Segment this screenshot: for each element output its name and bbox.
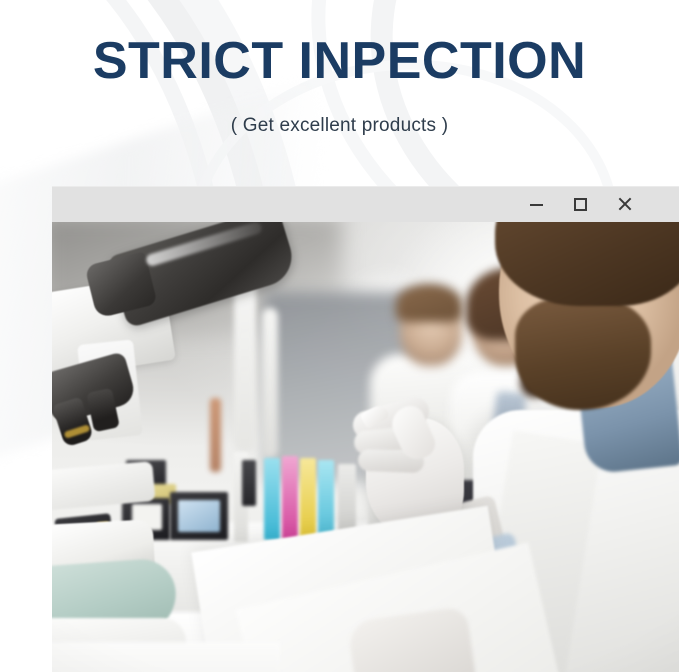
header: STRICT INPECTION ( Get excellent product…	[0, 0, 679, 137]
close-button[interactable]	[607, 192, 641, 218]
minimize-icon	[530, 204, 543, 206]
window-titlebar[interactable]	[52, 186, 679, 222]
minimize-button[interactable]	[519, 192, 553, 218]
app-window	[52, 186, 679, 672]
close-icon	[617, 197, 632, 212]
maximize-button[interactable]	[563, 192, 597, 218]
maximize-icon	[574, 198, 587, 211]
page-subtitle: ( Get excellent products )	[0, 115, 679, 137]
page-title: STRICT INPECTION	[0, 34, 679, 89]
lab-inspection-photo	[52, 222, 679, 672]
photo-vignette	[52, 222, 679, 672]
